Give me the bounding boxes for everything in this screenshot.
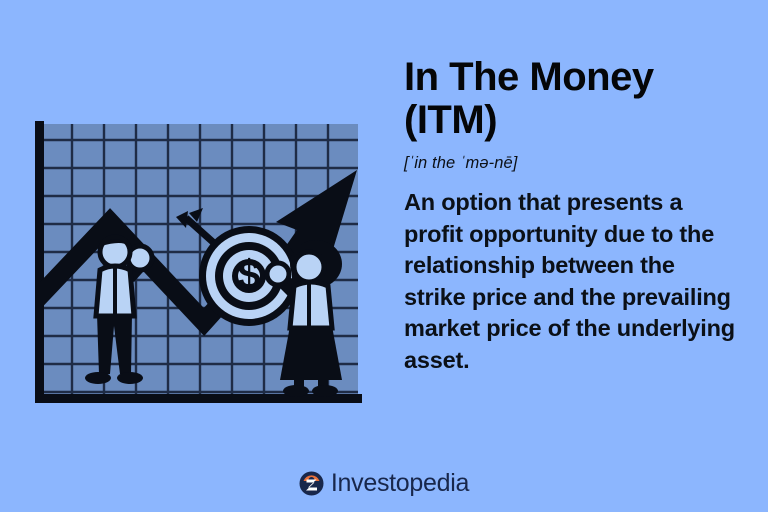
investopedia-logo-text: Investopedia [331,471,469,496]
definition-card: $ [0,0,768,512]
illustration-svg: $ [26,112,370,412]
term-pronunciation: [ˈin the ˈmə-nē] [404,154,740,173]
term-definition: An option that presents a profit opportu… [404,187,740,376]
term-title: In The Money (ITM) [404,56,740,142]
investopedia-logo-icon [299,471,324,496]
investopedia-logo: Investopedia [0,471,768,496]
svg-text:$: $ [237,251,260,298]
stock-chart-illustration: $ [26,112,370,412]
definition-text-column: In The Money (ITM) [ˈin the ˈmə-nē] An o… [404,56,740,376]
